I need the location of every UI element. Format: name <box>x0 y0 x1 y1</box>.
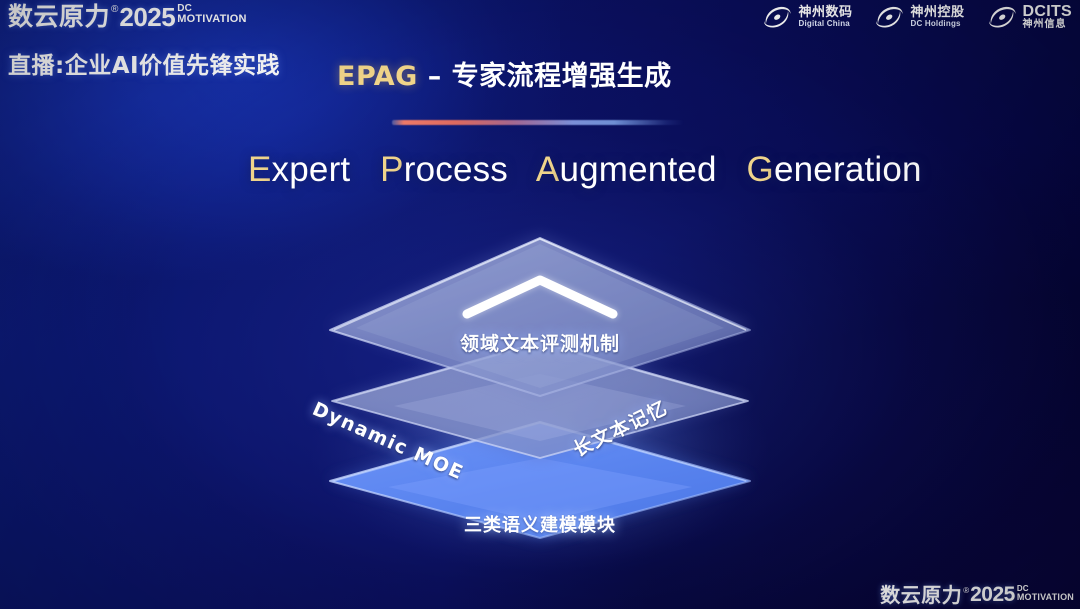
page-title: EPAG – 专家流程增强生成 <box>337 54 672 93</box>
subtitle-rest: xpert <box>272 150 351 189</box>
accent-divider <box>392 120 684 125</box>
layered-architecture-diagram: 领域文本评测机制 Dynamic MOE 长文本记忆 三类语义建模模块 <box>300 222 780 592</box>
brand-dc-motivation: DC MOTIVATION <box>177 4 246 24</box>
brand-name-cn: 数云原力 <box>8 2 110 32</box>
subtitle-rest: ugmented <box>559 150 716 189</box>
brand-logo-bottomright: 数云原力 ® 2025 DC MOTIVATION <box>880 583 1074 607</box>
subtitle-cap: P <box>380 150 404 189</box>
subtitle-word-3: Augmented <box>536 150 717 189</box>
page-title-acronym: EPAG <box>337 61 418 92</box>
brand-dc-line2: MOTIVATION <box>177 14 246 24</box>
page-title-separator: – <box>418 61 452 92</box>
space <box>360 150 370 189</box>
slide-canvas: 数云原力 ® 2025 DC MOTIVATION 直播:企业AI价值先锋实践 … <box>0 0 1080 609</box>
logo-name-cn: 神州数码 <box>798 6 852 20</box>
subtitle-word-4: Generation <box>747 150 922 189</box>
logo-name-cn: 神州信息 <box>1023 20 1073 31</box>
logo-text: 神州控股 DC Holdings <box>910 6 964 28</box>
swirl-logo-icon <box>987 4 1017 30</box>
swirl-logo-icon <box>762 4 792 30</box>
logo-name-en: Digital China <box>798 20 852 28</box>
brand-logo-topleft: 数云原力 ® 2025 DC MOTIVATION <box>8 2 247 32</box>
brand-name-cn: 数云原力 <box>880 583 962 607</box>
page-title-cn: 专家流程增强生成 <box>452 61 672 92</box>
logo-dc-holdings: 神州控股 DC Holdings <box>874 4 964 30</box>
logo-dcits: DCITS 神州信息 <box>987 4 1073 31</box>
space <box>518 150 528 189</box>
logo-text: 神州数码 Digital China <box>798 6 852 28</box>
brand-dc-motivation: DC MOTIVATION <box>1017 585 1074 601</box>
registered-mark: ® <box>963 585 969 597</box>
subtitle-cap: E <box>248 150 272 189</box>
logo-digital-china: 神州数码 Digital China <box>762 4 852 30</box>
subtitle-word-2: Process <box>380 150 508 189</box>
subtitle-rest: rocess <box>404 150 508 189</box>
brand-year: 2025 <box>119 2 175 32</box>
logo-name-cn: 神州控股 <box>910 6 964 20</box>
registered-mark: ® <box>111 4 118 16</box>
logo-name-en: DCITS <box>1023 4 1073 20</box>
subtitle-rest: eneration <box>774 150 922 189</box>
partner-logos: 神州数码 Digital China 神州控股 DC Holdings <box>762 4 1072 31</box>
subtitle-word-1: Expert <box>248 150 350 189</box>
brand-dc-line2: MOTIVATION <box>1017 593 1074 601</box>
brand-year: 2025 <box>970 583 1015 607</box>
subtitle-cap: G <box>747 150 774 189</box>
space <box>727 150 737 189</box>
logo-text: DCITS 神州信息 <box>1023 4 1073 31</box>
page-subtitle: Expert Process Augmented Generation <box>248 150 922 190</box>
logo-name-en: DC Holdings <box>910 20 964 28</box>
live-broadcast-title: 直播:企业AI价值先锋实践 <box>8 46 280 80</box>
swirl-logo-icon <box>874 4 904 30</box>
subtitle-cap: A <box>536 150 560 189</box>
